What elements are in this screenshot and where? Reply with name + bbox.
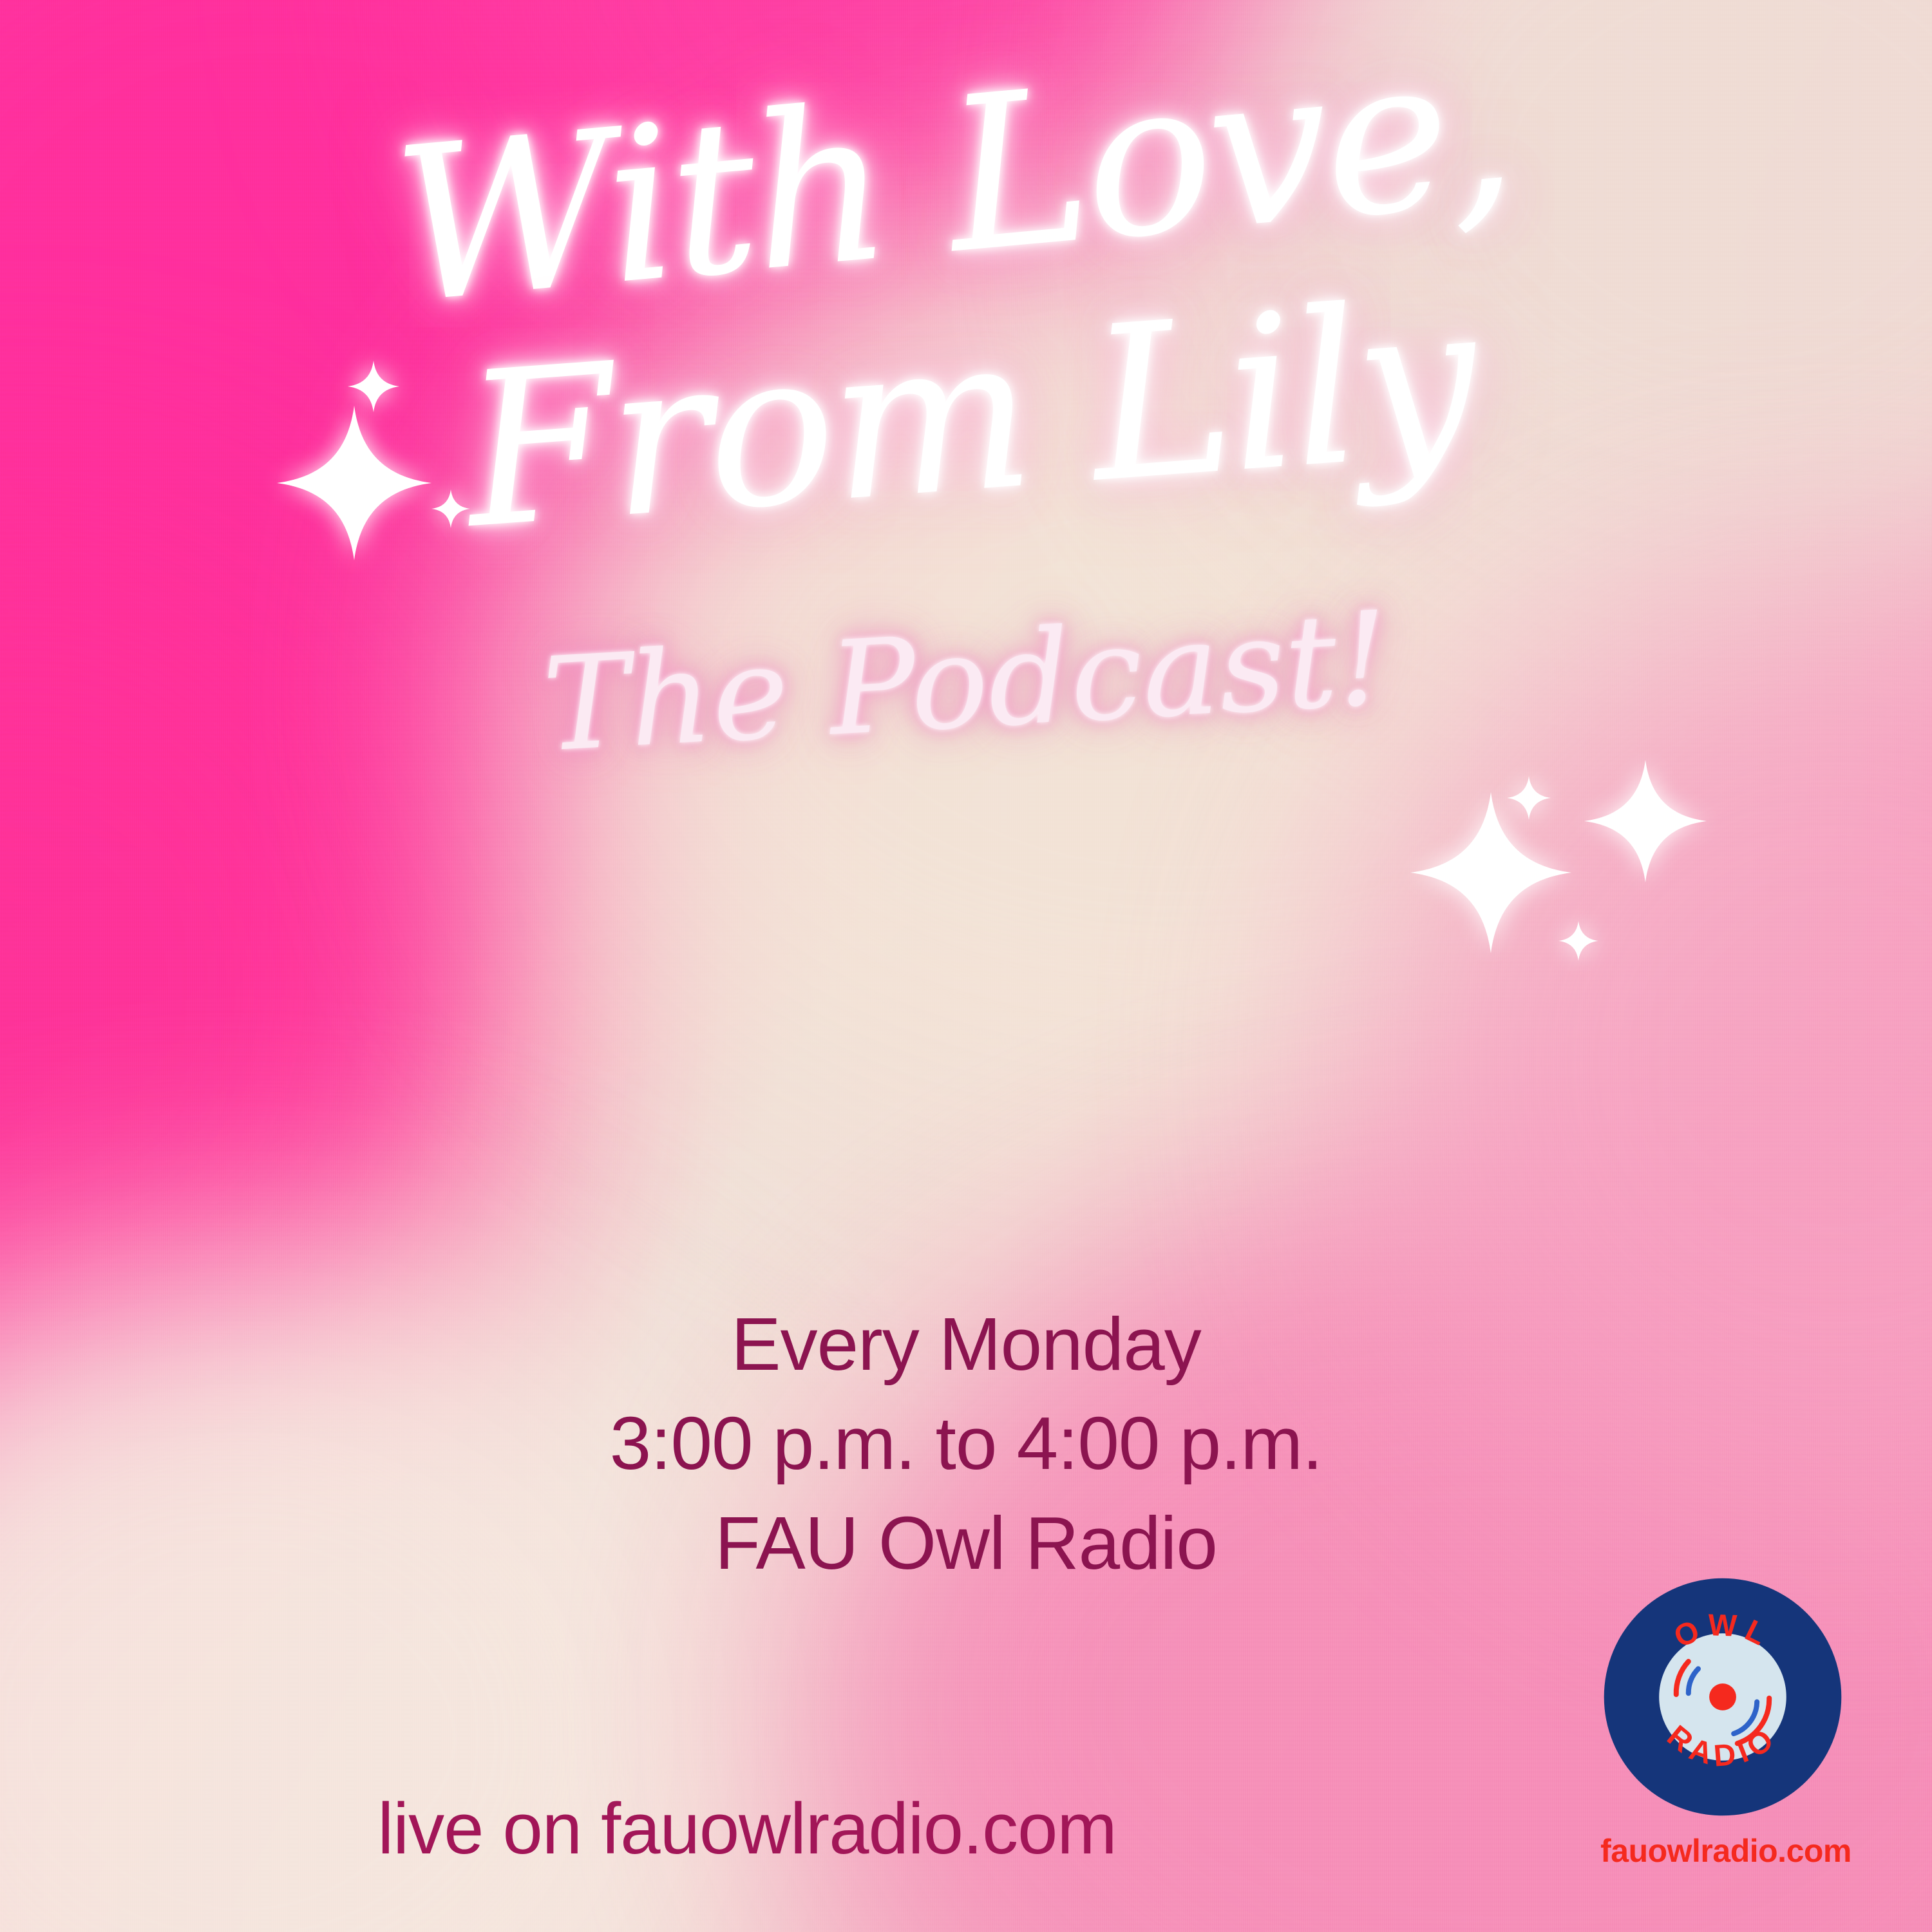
- schedule-line-time: 3:00 p.m. to 4:00 p.m.: [0, 1394, 1932, 1493]
- owl-radio-logo-icon: OWL RADIO: [1600, 1575, 1845, 1819]
- live-stream-line: live on fauowlradio.com: [0, 1787, 1494, 1870]
- podcast-poster: With Love, From Lily The Podcast! Every …: [0, 0, 1932, 1932]
- logo-url-label: fauowlradio.com: [1581, 1832, 1871, 1870]
- schedule-line-day: Every Monday: [0, 1294, 1932, 1394]
- schedule-block: Every Monday 3:00 p.m. to 4:00 p.m. FAU …: [0, 1294, 1932, 1593]
